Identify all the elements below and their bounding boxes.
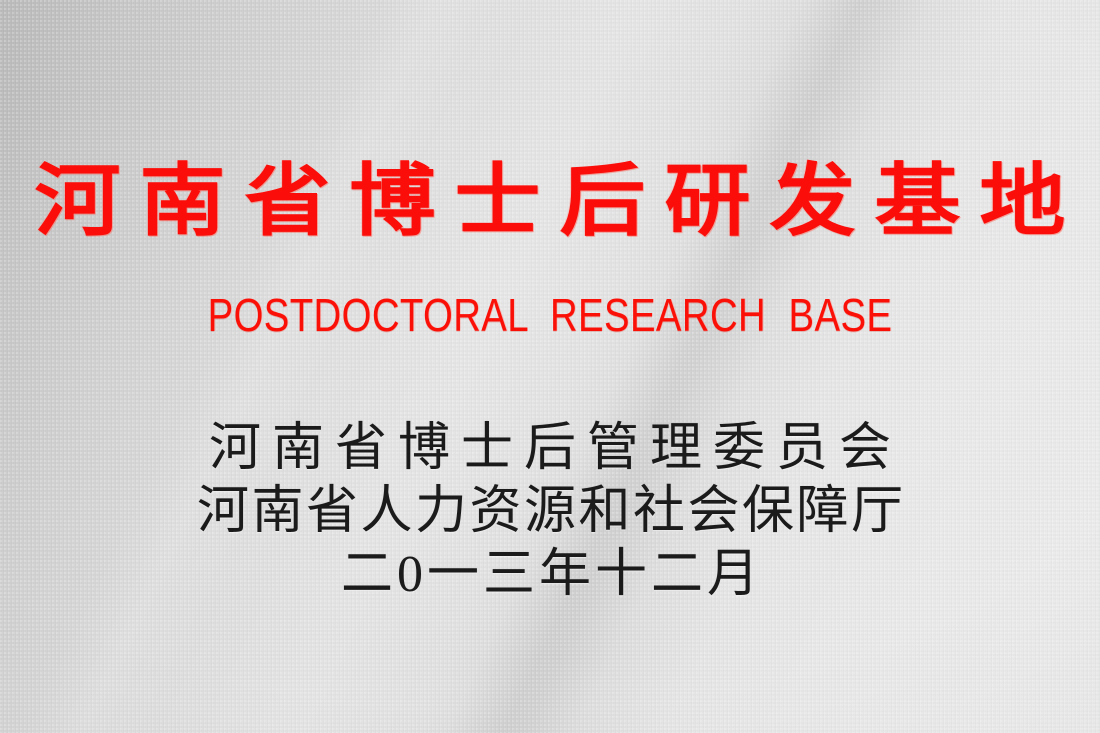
plaque-panel: 河南省博士后研发基地 POSTDOCTORAL RESEARCH BASE 河南… <box>0 0 1100 733</box>
issuer-line-1: 河南省博士后管理委员会 <box>0 423 1100 475</box>
plaque-title-chinese: 河南省博士后研发基地 <box>0 162 1100 241</box>
plaque-content: 河南省博士后研发基地 POSTDOCTORAL RESEARCH BASE 河南… <box>0 0 1100 733</box>
issue-date: 二0一三年十二月 <box>0 549 1100 601</box>
issuer-line-2: 河南省人力资源和社会保障厅 <box>0 486 1100 538</box>
plaque-title-english: POSTDOCTORAL RESEARCH BASE <box>102 292 999 338</box>
